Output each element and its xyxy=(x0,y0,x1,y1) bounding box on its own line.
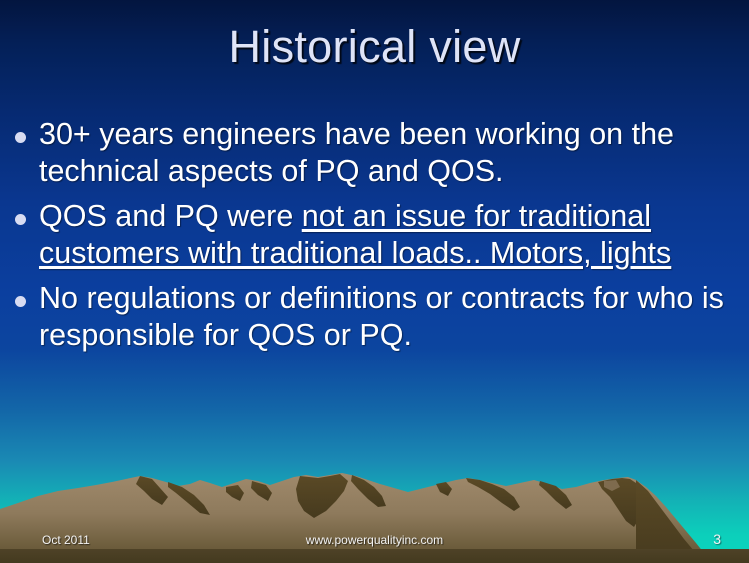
slide-body-bullet-list: 30+ years engineers have been working on… xyxy=(10,116,745,362)
bullet-text-plain: No regulations or definitions or contrac… xyxy=(39,281,724,352)
bullet-dot-icon xyxy=(15,214,26,225)
bullet-text-plain: QOS and PQ were xyxy=(39,199,302,233)
slide-page-number: 3 xyxy=(713,531,721,547)
footer-website-url: www.powerqualityinc.com xyxy=(0,533,749,547)
bullet-text: 30+ years engineers have been working on… xyxy=(39,116,745,190)
ground-strip xyxy=(0,549,749,563)
mountain-silhouette-svg xyxy=(0,463,749,563)
list-item: QOS and PQ were not an issue for traditi… xyxy=(10,198,745,272)
list-item: 30+ years engineers have been working on… xyxy=(10,116,745,190)
presentation-slide: Historical view 30+ years engineers have… xyxy=(0,0,749,563)
bullet-text: No regulations or definitions or contrac… xyxy=(39,280,745,354)
bullet-text: QOS and PQ were not an issue for traditi… xyxy=(39,198,745,272)
bullet-dot-icon xyxy=(15,296,26,307)
mountain-landscape-image xyxy=(0,463,749,563)
slide-title: Historical view xyxy=(0,18,749,76)
bullet-dot-icon xyxy=(15,132,26,143)
list-item: No regulations or definitions or contrac… xyxy=(10,280,745,354)
bullet-text-plain: 30+ years engineers have been working on… xyxy=(39,117,674,188)
